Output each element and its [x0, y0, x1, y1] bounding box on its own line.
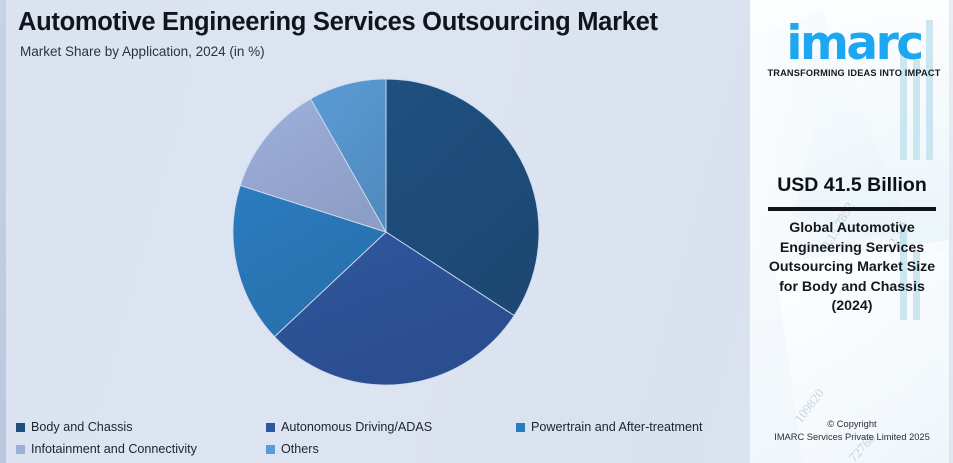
legend-label: Infotainment and Connectivity — [31, 442, 197, 456]
legend-swatch-icon — [266, 423, 275, 432]
legend-swatch-icon — [266, 445, 275, 454]
imarc-logo: imarc TRANSFORMING IDEAS INTO IMPACT — [764, 22, 944, 78]
brand-panel-content: imarc TRANSFORMING IDEAS INTO IMPACT USD… — [750, 0, 953, 463]
chart-legend: Body and Chassis Autonomous Driving/ADAS… — [0, 412, 745, 463]
stat-divider — [768, 207, 936, 211]
stat-value: USD 41.5 Billion — [758, 174, 946, 197]
legend-label: Body and Chassis — [31, 420, 133, 434]
legend-item-others[interactable]: Others — [266, 442, 319, 456]
copyright-line-1: © Copyright — [756, 418, 948, 431]
page-subtitle: Market Share by Application, 2024 (in %) — [20, 44, 265, 59]
infographic-root: Automotive Engineering Services Outsourc… — [0, 0, 953, 463]
imarc-logo-wordmark: imarc — [764, 22, 944, 67]
legend-item-body-and-chassis[interactable]: Body and Chassis — [16, 420, 133, 434]
pie-chart — [232, 78, 540, 386]
legend-swatch-icon — [16, 445, 25, 454]
legend-swatch-icon — [16, 423, 25, 432]
stat-description: Global Automotive Engineering Services O… — [762, 219, 942, 317]
copyright-notice: © Copyright IMARC Services Private Limit… — [756, 418, 948, 445]
legend-item-powertrain[interactable]: Powertrain and After-treatment — [516, 420, 703, 434]
chart-area — [0, 60, 745, 410]
brand-panel: 1 2 3 4 0.15 7852 109820 72768 imarc TRA… — [750, 0, 953, 463]
pie-chart-svg — [232, 78, 540, 386]
legend-label: Others — [281, 442, 319, 456]
legend-item-infotainment[interactable]: Infotainment and Connectivity — [16, 442, 197, 456]
page-title: Automotive Engineering Services Outsourc… — [18, 8, 758, 37]
legend-label: Autonomous Driving/ADAS — [281, 420, 432, 434]
legend-swatch-icon — [516, 423, 525, 432]
legend-label: Powertrain and After-treatment — [531, 420, 703, 434]
right-edge-strip — [949, 0, 953, 463]
copyright-line-2: IMARC Services Private Limited 2025 — [756, 431, 948, 444]
legend-item-autonomous-driving[interactable]: Autonomous Driving/ADAS — [266, 420, 432, 434]
